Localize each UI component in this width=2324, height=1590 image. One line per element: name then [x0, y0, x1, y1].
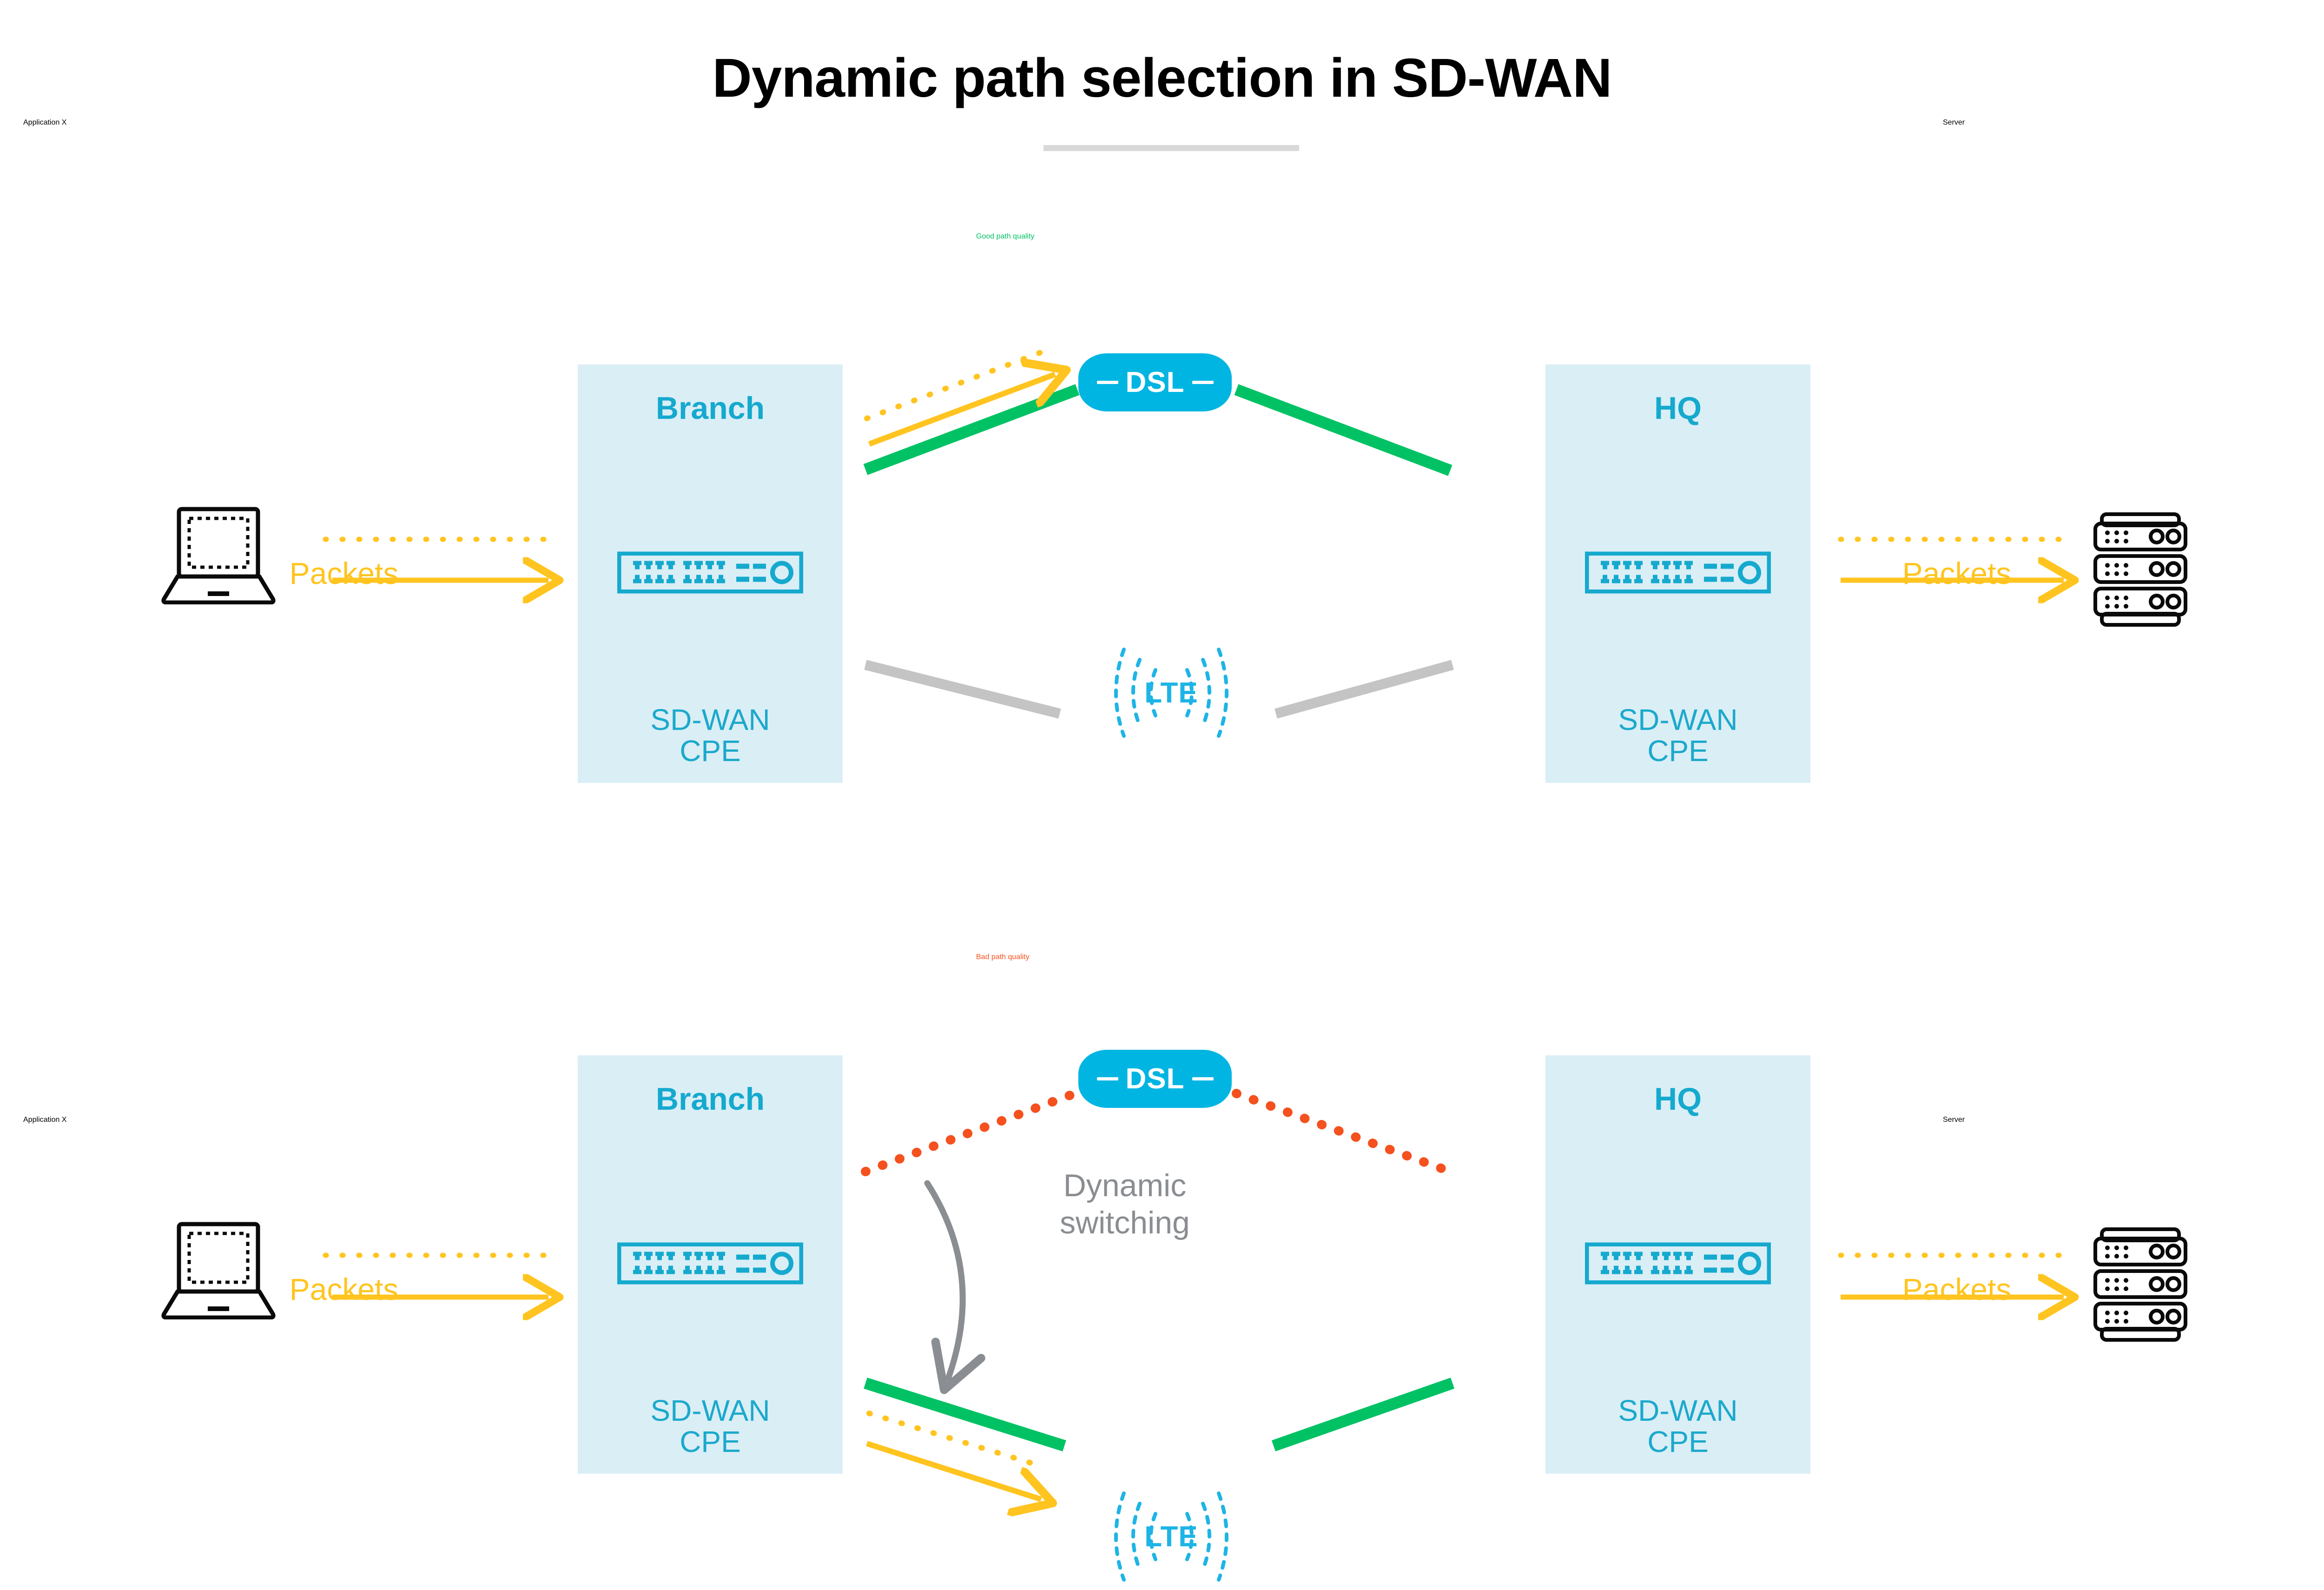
- hq-subtitle-line2: CPE: [1545, 735, 1810, 767]
- lte-active-path-bottom: [865, 1383, 1452, 1446]
- dsl-node-top[interactable]: DSL: [1078, 353, 1232, 411]
- lte-signal-waves-icon: [1069, 639, 1274, 746]
- dsl-dash-left: [1097, 1077, 1118, 1080]
- hq-subtitle: SD-WAN CPE: [1545, 1395, 1810, 1457]
- hq-title: HQ: [1545, 1081, 1810, 1117]
- branch-site-box: Branch: [578, 1055, 843, 1474]
- server-rack-icon: [2082, 1226, 2199, 1353]
- branch-subtitle: SD-WAN CPE: [578, 704, 843, 767]
- dsl-node-label: DSL: [1126, 1062, 1185, 1095]
- dynamic-switching-line2: switching: [985, 1204, 1264, 1241]
- bad-path-quality-label: Bad path quality: [976, 953, 1030, 961]
- packets-label-right-top: Packets: [1841, 556, 2073, 591]
- dynamic-switch-arrow-icon: [927, 1183, 963, 1378]
- packets-label-left-top: Packets: [228, 556, 460, 591]
- hq-subtitle: SD-WAN CPE: [1545, 704, 1810, 767]
- lte-signal-waves-icon: [1069, 1483, 1274, 1590]
- lte-node-top[interactable]: LTE: [1069, 639, 1274, 746]
- hq-site-box: HQ: [1545, 1055, 1810, 1474]
- sd-wan-router-icon: [1585, 552, 1771, 596]
- server-label-bottom: Server: [1943, 1116, 1965, 1124]
- branch-subtitle-line1: SD-WAN: [578, 1395, 843, 1426]
- branch-title: Branch: [578, 1081, 843, 1117]
- branch-title: Branch: [578, 390, 843, 426]
- application-label-top: Application X: [23, 119, 66, 127]
- lte-packet-arrow-bottom: [867, 1413, 1043, 1499]
- server-rack-icon: [2082, 510, 2199, 638]
- hq-subtitle-line2: CPE: [1545, 1426, 1810, 1457]
- dynamic-switching-label: Dynamic switching: [985, 1167, 1264, 1241]
- sd-wan-router-icon: [1585, 1243, 1771, 1287]
- packets-label-left-bottom: Packets: [228, 1272, 460, 1307]
- hq-site-box: HQ: [1545, 364, 1810, 783]
- good-path-quality-label: Good path quality: [976, 232, 1034, 241]
- branch-subtitle: SD-WAN CPE: [578, 1395, 843, 1457]
- hq-title: HQ: [1545, 390, 1810, 426]
- hq-subtitle-line1: SD-WAN: [1545, 704, 1810, 735]
- server-label-top: Server: [1943, 119, 1965, 127]
- sd-wan-router-icon: [617, 1243, 803, 1287]
- title-divider: [1043, 145, 1299, 151]
- dsl-packet-arrow-top: [867, 350, 1055, 444]
- dsl-dash-right: [1192, 381, 1214, 384]
- sd-wan-router-icon: [617, 552, 803, 596]
- branch-subtitle-line2: CPE: [578, 735, 843, 767]
- packets-label-right-bottom: Packets: [1841, 1272, 2073, 1307]
- lte-node-bottom[interactable]: LTE: [1069, 1483, 1274, 1590]
- branch-site-box: Branch: [578, 364, 843, 783]
- dsl-dash-right: [1192, 1077, 1214, 1080]
- diagram-canvas: Dynamic path selection in SD-WAN Good pa…: [0, 0, 2324, 1533]
- hq-subtitle-line1: SD-WAN: [1545, 1395, 1810, 1426]
- branch-subtitle-line1: SD-WAN: [578, 704, 843, 735]
- dsl-dash-left: [1097, 381, 1118, 384]
- dynamic-switching-line1: Dynamic: [985, 1167, 1264, 1204]
- page-title: Dynamic path selection in SD-WAN: [0, 46, 2324, 110]
- branch-subtitle-line2: CPE: [578, 1426, 843, 1457]
- dsl-node-bottom[interactable]: DSL: [1078, 1050, 1232, 1108]
- application-label-bottom: Application X: [23, 1116, 66, 1124]
- dsl-node-label: DSL: [1126, 366, 1185, 399]
